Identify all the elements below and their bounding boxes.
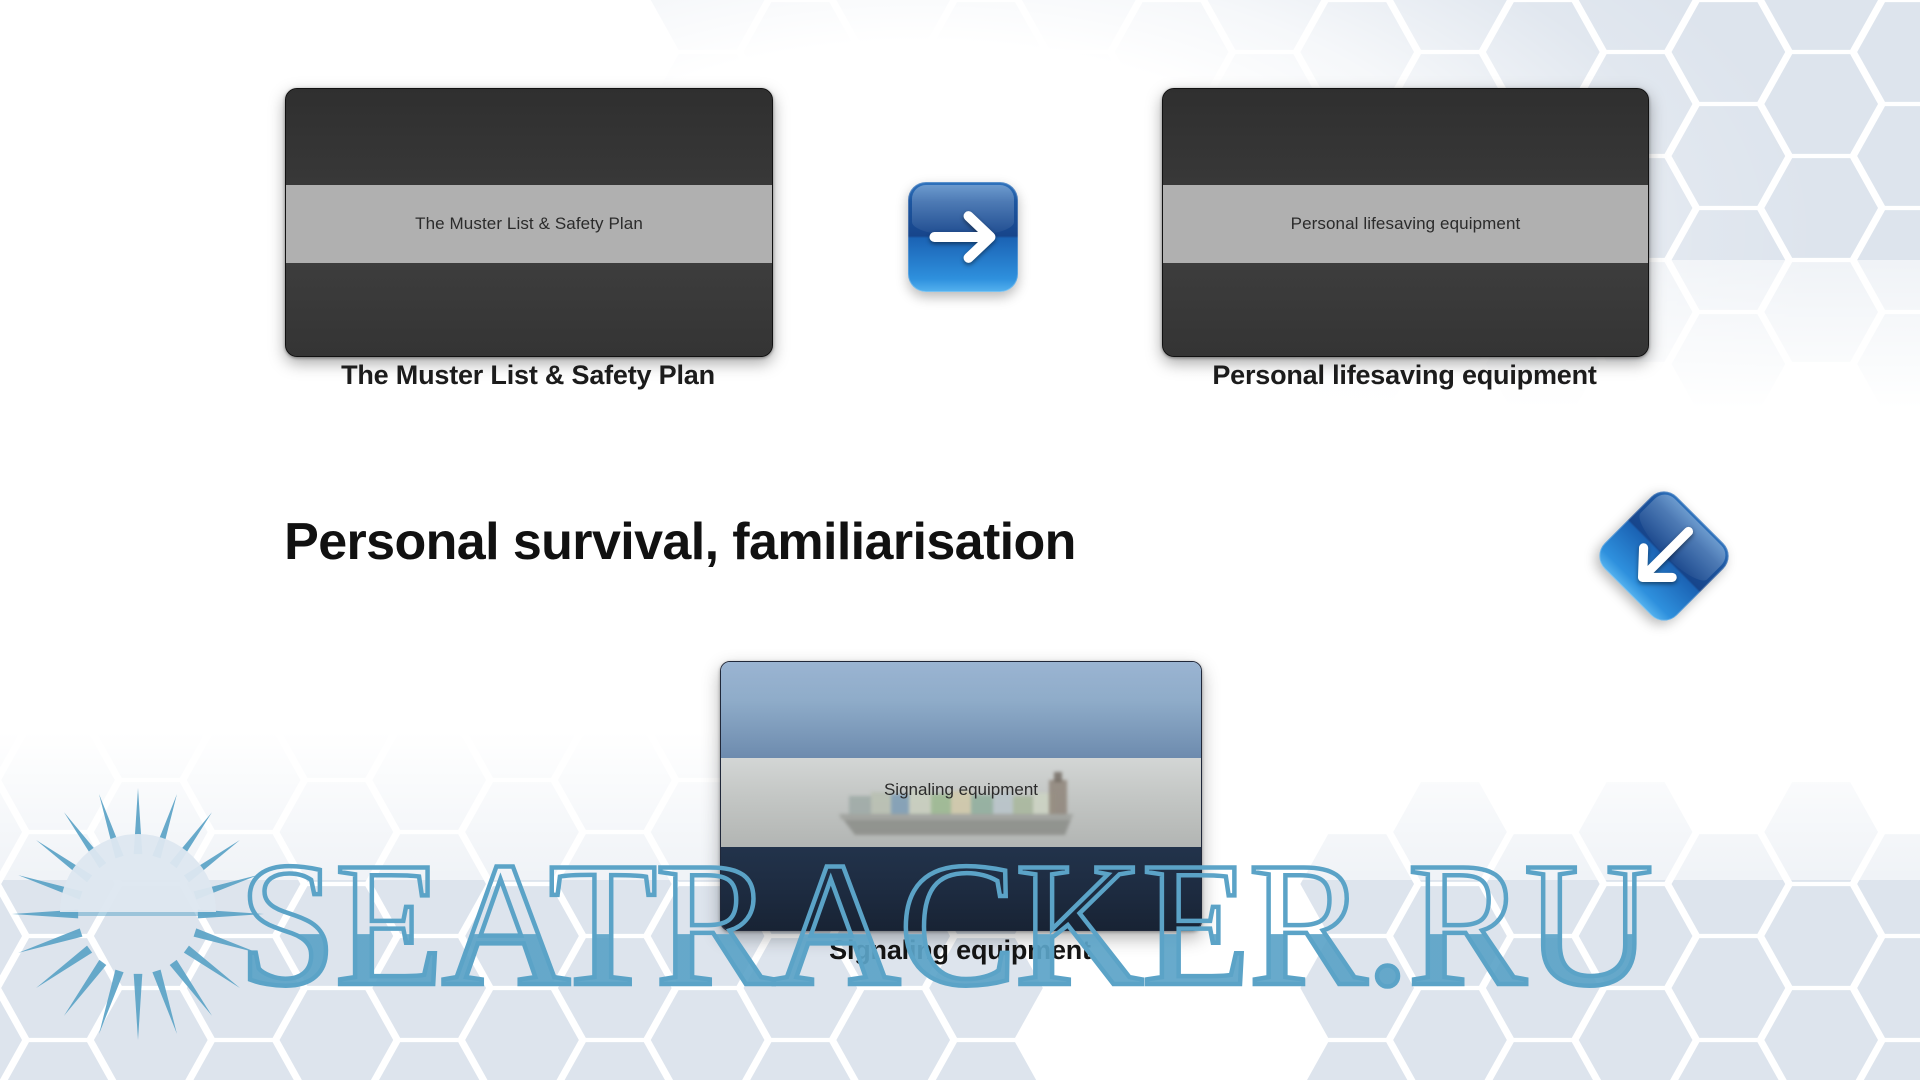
hexagon-shape xyxy=(1021,52,1137,156)
hexagon-shape xyxy=(1021,0,1137,52)
hexagon-shape xyxy=(1856,312,1920,416)
hexagon-shape xyxy=(1670,1040,1786,1080)
hexagon-shape xyxy=(1392,884,1508,988)
hexagon-shape xyxy=(1206,0,1322,52)
hexagon-shape xyxy=(371,832,487,936)
thumbnail-inner-label: Personal lifesaving equipment xyxy=(1291,214,1521,234)
hexagon-shape xyxy=(93,780,209,884)
hexagon-shape xyxy=(464,780,580,884)
hexagon-shape xyxy=(1856,936,1920,1040)
hexagon-shape xyxy=(650,988,766,1080)
hexagon-shape xyxy=(371,624,487,728)
thumbnail-inner-label: The Muster List & Safety Plan xyxy=(415,214,643,234)
hexagon-shape xyxy=(1763,156,1879,260)
hexagon-shape xyxy=(186,624,302,728)
hexagon-shape xyxy=(557,728,673,832)
hexagon-shape xyxy=(557,936,673,1040)
arrow-down-left-icon xyxy=(1613,505,1715,607)
hexagon-shape xyxy=(0,624,116,728)
hexagon-shape xyxy=(1670,208,1786,312)
hexagon-shape xyxy=(186,728,302,832)
thumbnail-center-band: Personal lifesaving equipment xyxy=(1163,185,1648,262)
caption-signaling-equipment: Signaling equipment xyxy=(720,935,1200,966)
hexagon-shape xyxy=(928,1040,1044,1080)
hexagon-shape xyxy=(278,884,394,988)
hexagon-shape xyxy=(1670,0,1786,104)
hexagon-shape xyxy=(835,52,951,156)
hexagon-shape xyxy=(464,988,580,1080)
hexagon-shape xyxy=(1763,988,1879,1080)
hexagon-shape xyxy=(835,0,951,52)
hexagon-shape xyxy=(1021,260,1137,364)
hexagon-shape xyxy=(928,312,1044,416)
photo-sky-band xyxy=(721,662,1201,758)
hexagon-shape xyxy=(1763,52,1879,156)
hexagon-shape xyxy=(1856,208,1920,312)
hexagon-shape xyxy=(1856,0,1920,104)
thumbnail-center-band: The Muster List & Safety Plan xyxy=(286,185,772,262)
hexagon-shape xyxy=(835,988,951,1080)
hexagon-shape xyxy=(0,1040,116,1080)
slide-root: The Muster List & Safety Plan The Muster… xyxy=(0,0,1920,1080)
hexagon-shape xyxy=(1299,1040,1415,1080)
hexagon-shape xyxy=(371,1040,487,1080)
hexagon-shape xyxy=(1670,936,1786,1040)
hexagon-shape xyxy=(1578,988,1694,1080)
hexagon-shape xyxy=(928,0,1044,104)
hexagon-shape xyxy=(186,832,302,936)
photo-sea-band xyxy=(721,847,1201,930)
hexagon-shape xyxy=(1856,1040,1920,1080)
thumbnail-top-band xyxy=(1163,89,1648,185)
hexagon-shape xyxy=(1299,936,1415,1040)
thumbnail-top-band xyxy=(286,89,772,185)
hexagon-shape xyxy=(1670,312,1786,416)
thumbnail-bottom-band xyxy=(1163,263,1648,356)
thumbnail-signaling-equipment[interactable]: Signaling equipment xyxy=(720,661,1202,931)
thumbnail-personal-lifesaving[interactable]: Personal lifesaving equipment xyxy=(1162,88,1649,357)
hexagon-shape xyxy=(278,780,394,884)
arrow-right-icon xyxy=(908,182,1018,292)
hexagon-shape xyxy=(1670,832,1786,936)
thumbnail-muster-list[interactable]: The Muster List & Safety Plan xyxy=(285,88,773,357)
caption-personal-lifesaving: Personal lifesaving equipment xyxy=(1162,360,1647,391)
hexagon-shape xyxy=(557,1040,673,1080)
thumbnail-bottom-band xyxy=(286,263,772,356)
hexagon-shape xyxy=(1485,936,1601,1040)
hexagon-shape xyxy=(0,728,116,832)
hexagon-shape xyxy=(464,676,580,780)
hexagon-shape xyxy=(278,676,394,780)
thumbnail-inner-label: Signaling equipment xyxy=(721,780,1201,800)
hexagon-shape xyxy=(0,884,23,988)
hexagon-shape xyxy=(1856,104,1920,208)
hexagon-shape xyxy=(1578,884,1694,988)
hexagon-shape xyxy=(464,884,580,988)
hexagon-shape xyxy=(1485,832,1601,936)
hexagon-shape xyxy=(0,936,116,1040)
hexagon-shape xyxy=(1763,780,1879,884)
hexagon-shape xyxy=(1763,0,1879,52)
hexagon-shape xyxy=(1670,104,1786,208)
hexagon-shape xyxy=(557,624,673,728)
hexagon-shape xyxy=(557,832,673,936)
hexagon-shape xyxy=(1763,884,1879,988)
hexagon-shape xyxy=(186,1040,302,1080)
hexagon-shape xyxy=(1856,832,1920,936)
hexagon-shape xyxy=(1299,832,1415,936)
hexagon-shape xyxy=(0,988,23,1080)
hexagon-shape xyxy=(1021,156,1137,260)
hexagon-shape xyxy=(371,936,487,1040)
hexagon-shape xyxy=(1392,780,1508,884)
hexagon-shape xyxy=(1578,780,1694,884)
hexagon-shape xyxy=(0,780,23,884)
hexagon-shape xyxy=(1578,0,1694,52)
hexagon-shape xyxy=(93,988,209,1080)
hexagon-shape xyxy=(186,936,302,1040)
hexagon-shape xyxy=(1392,988,1508,1080)
hexagon-shape xyxy=(1392,0,1508,52)
hexagon-shape xyxy=(650,0,766,52)
hexagon-shape xyxy=(278,988,394,1080)
hexagon-shape xyxy=(93,884,209,988)
hexagon-shape xyxy=(0,676,23,780)
arrow-right-button[interactable] xyxy=(908,182,1018,292)
arrow-down-left-button[interactable] xyxy=(1592,484,1736,628)
caption-muster-list: The Muster List & Safety Plan xyxy=(285,360,771,391)
hexagon-shape xyxy=(93,676,209,780)
hexagon-shape xyxy=(0,832,116,936)
hexagon-shape xyxy=(1763,260,1879,364)
photo-middle-band xyxy=(721,758,1201,846)
hexagon-shape xyxy=(1485,1040,1601,1080)
hexagon-shape xyxy=(742,1040,858,1080)
hexagon-shape xyxy=(371,728,487,832)
sunburst-icon xyxy=(8,780,268,1040)
